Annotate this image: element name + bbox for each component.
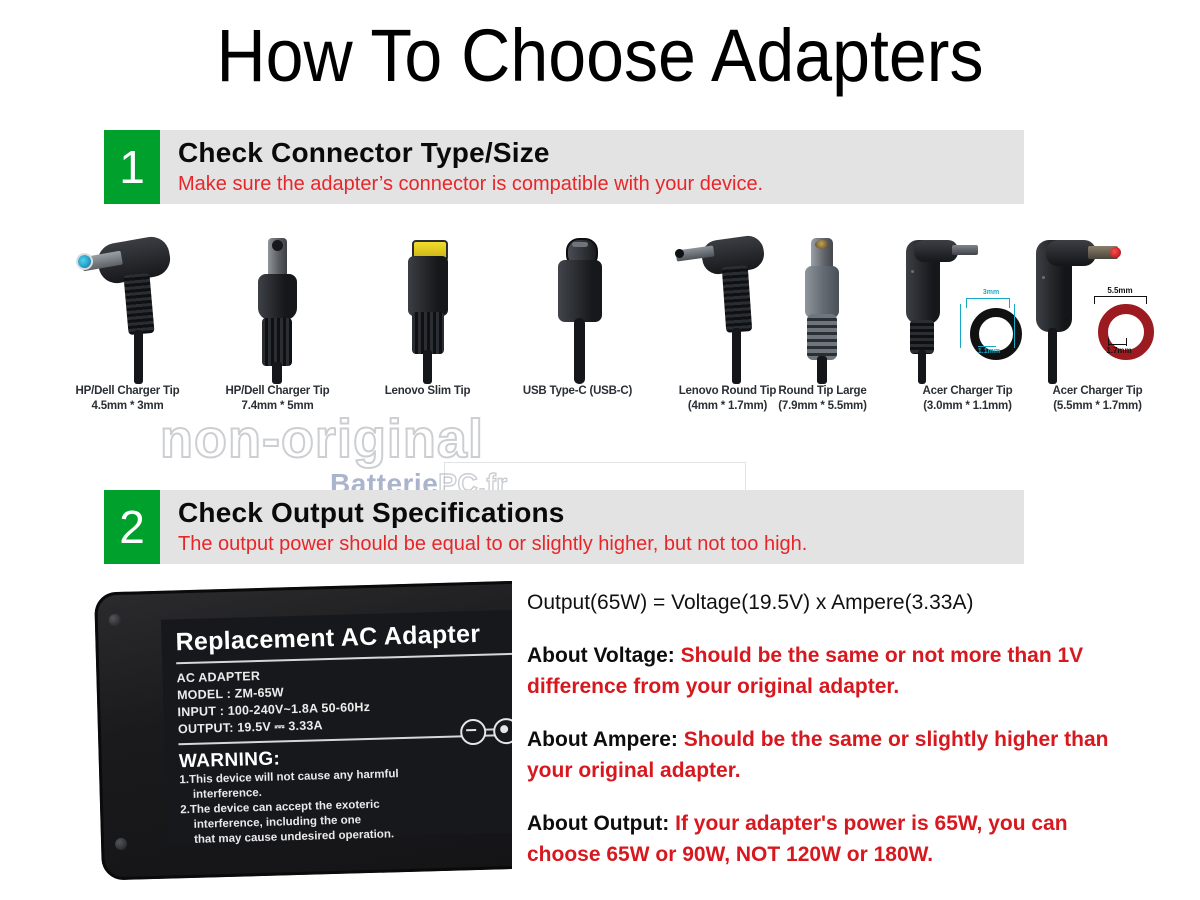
connector-label: Acer Charger Tip (5.5mm * 1.7mm) [1030,384,1165,414]
screw-icon [109,614,121,626]
ring-annotation-large: 5.5mm 1.7mm [1090,288,1160,358]
connector-item-acer-3-0mm: 3mm 1.1mm Acer Charger Tip (3.0mm * 1.1m… [900,232,1035,427]
connector-item-lenovo-slim: Lenovo Slim Tip [360,232,495,427]
connector-gallery: HP/Dell Charger Tip 4.5mm * 3mm HP/Dell … [60,232,1150,427]
ring-annotation-small: 3mm 1.1mm [960,294,1022,356]
step-2-number: 2 [104,490,160,564]
about-voltage: About Voltage: Should be the same or not… [527,640,1127,702]
polarity-diagram-icon [452,717,512,742]
step-2-banner: 2 Check Output Specifications The output… [104,490,1024,564]
adapter-label-title: Replacement AC Adapter [175,617,512,658]
about-ampere: About Ampere: Should be the same or slig… [527,724,1127,786]
hp-dell-angled-blue-tip-icon [60,232,195,384]
screw-icon [115,838,127,850]
connector-item-usb-c: USB Type-C (USB-C) [510,232,645,427]
connector-item-acer-5-5mm: 5.5mm 1.7mm Acer Charger Tip (5.5mm * 1.… [1030,232,1165,427]
about-ampere-key: About Ampere: [527,728,678,751]
connector-item-hp-dell-7-4mm: HP/Dell Charger Tip 7.4mm * 5mm [210,232,345,427]
round-tip-large-gray-icon [755,232,890,384]
usb-type-c-connector-icon [510,232,645,384]
ring-inner-label: 1.1mm [962,348,1016,355]
about-voltage-key: About Voltage: [527,644,675,667]
connector-label: USB Type-C (USB-C) [510,384,645,399]
step-1-text: Check Connector Type/Size Make sure the … [160,130,763,204]
step-1-heading: Check Connector Type/Size [178,137,763,169]
step-1-banner: 1 Check Connector Type/Size Make sure th… [104,130,1024,204]
ring-outer-label: 5.5mm [1092,286,1148,295]
connector-item-round-large: Round Tip Large (7.9mm * 5.5mm) [755,232,890,427]
connector-label: Round Tip Large (7.9mm * 5.5mm) [755,384,890,414]
ring-outer-label: 3mm [968,289,1014,296]
adapter-label: Replacement AC Adapter AC ADAPTER MODEL … [161,608,512,842]
adapter-warning-text: 1.This device will not cause any harmful… [179,763,512,849]
about-output-key: About Output: [527,812,669,835]
ring-inner-label: 1.7mm [1090,346,1148,355]
acer-angled-red-tip-icon: 5.5mm 1.7mm [1030,232,1165,384]
connector-label: Lenovo Slim Tip [360,384,495,399]
connector-item-hp-dell-4-5mm: HP/Dell Charger Tip 4.5mm * 3mm [60,232,195,427]
step-2-text: Check Output Specifications The output p… [160,490,807,564]
lenovo-slim-yellow-tip-icon [360,232,495,384]
step-2-heading: Check Output Specifications [178,497,807,529]
watermark-non-original: non-original [160,408,720,470]
hp-dell-straight-barrel-tip-icon [210,232,345,384]
infographic-page: How To Choose Adapters 1 Check Connector… [0,0,1200,900]
connector-label: Acer Charger Tip (3.0mm * 1.1mm) [900,384,1035,414]
adapter-photo: Replacement AC Adapter AC ADAPTER MODEL … [92,576,512,892]
step-1-subheading: Make sure the adapter’s connector is com… [178,171,763,197]
output-spec-text: Output(65W) = Voltage(19.5V) x Ampere(3.… [527,588,1127,892]
acer-angled-black-tip-icon: 3mm 1.1mm [900,232,1035,384]
output-formula: Output(65W) = Voltage(19.5V) x Ampere(3.… [527,588,1127,618]
about-output: About Output: If your adapter's power is… [527,808,1127,870]
page-title: How To Choose Adapters [48,14,1152,98]
step-2-subheading: The output power should be equal to or s… [178,531,807,557]
step-1-number: 1 [104,130,160,204]
